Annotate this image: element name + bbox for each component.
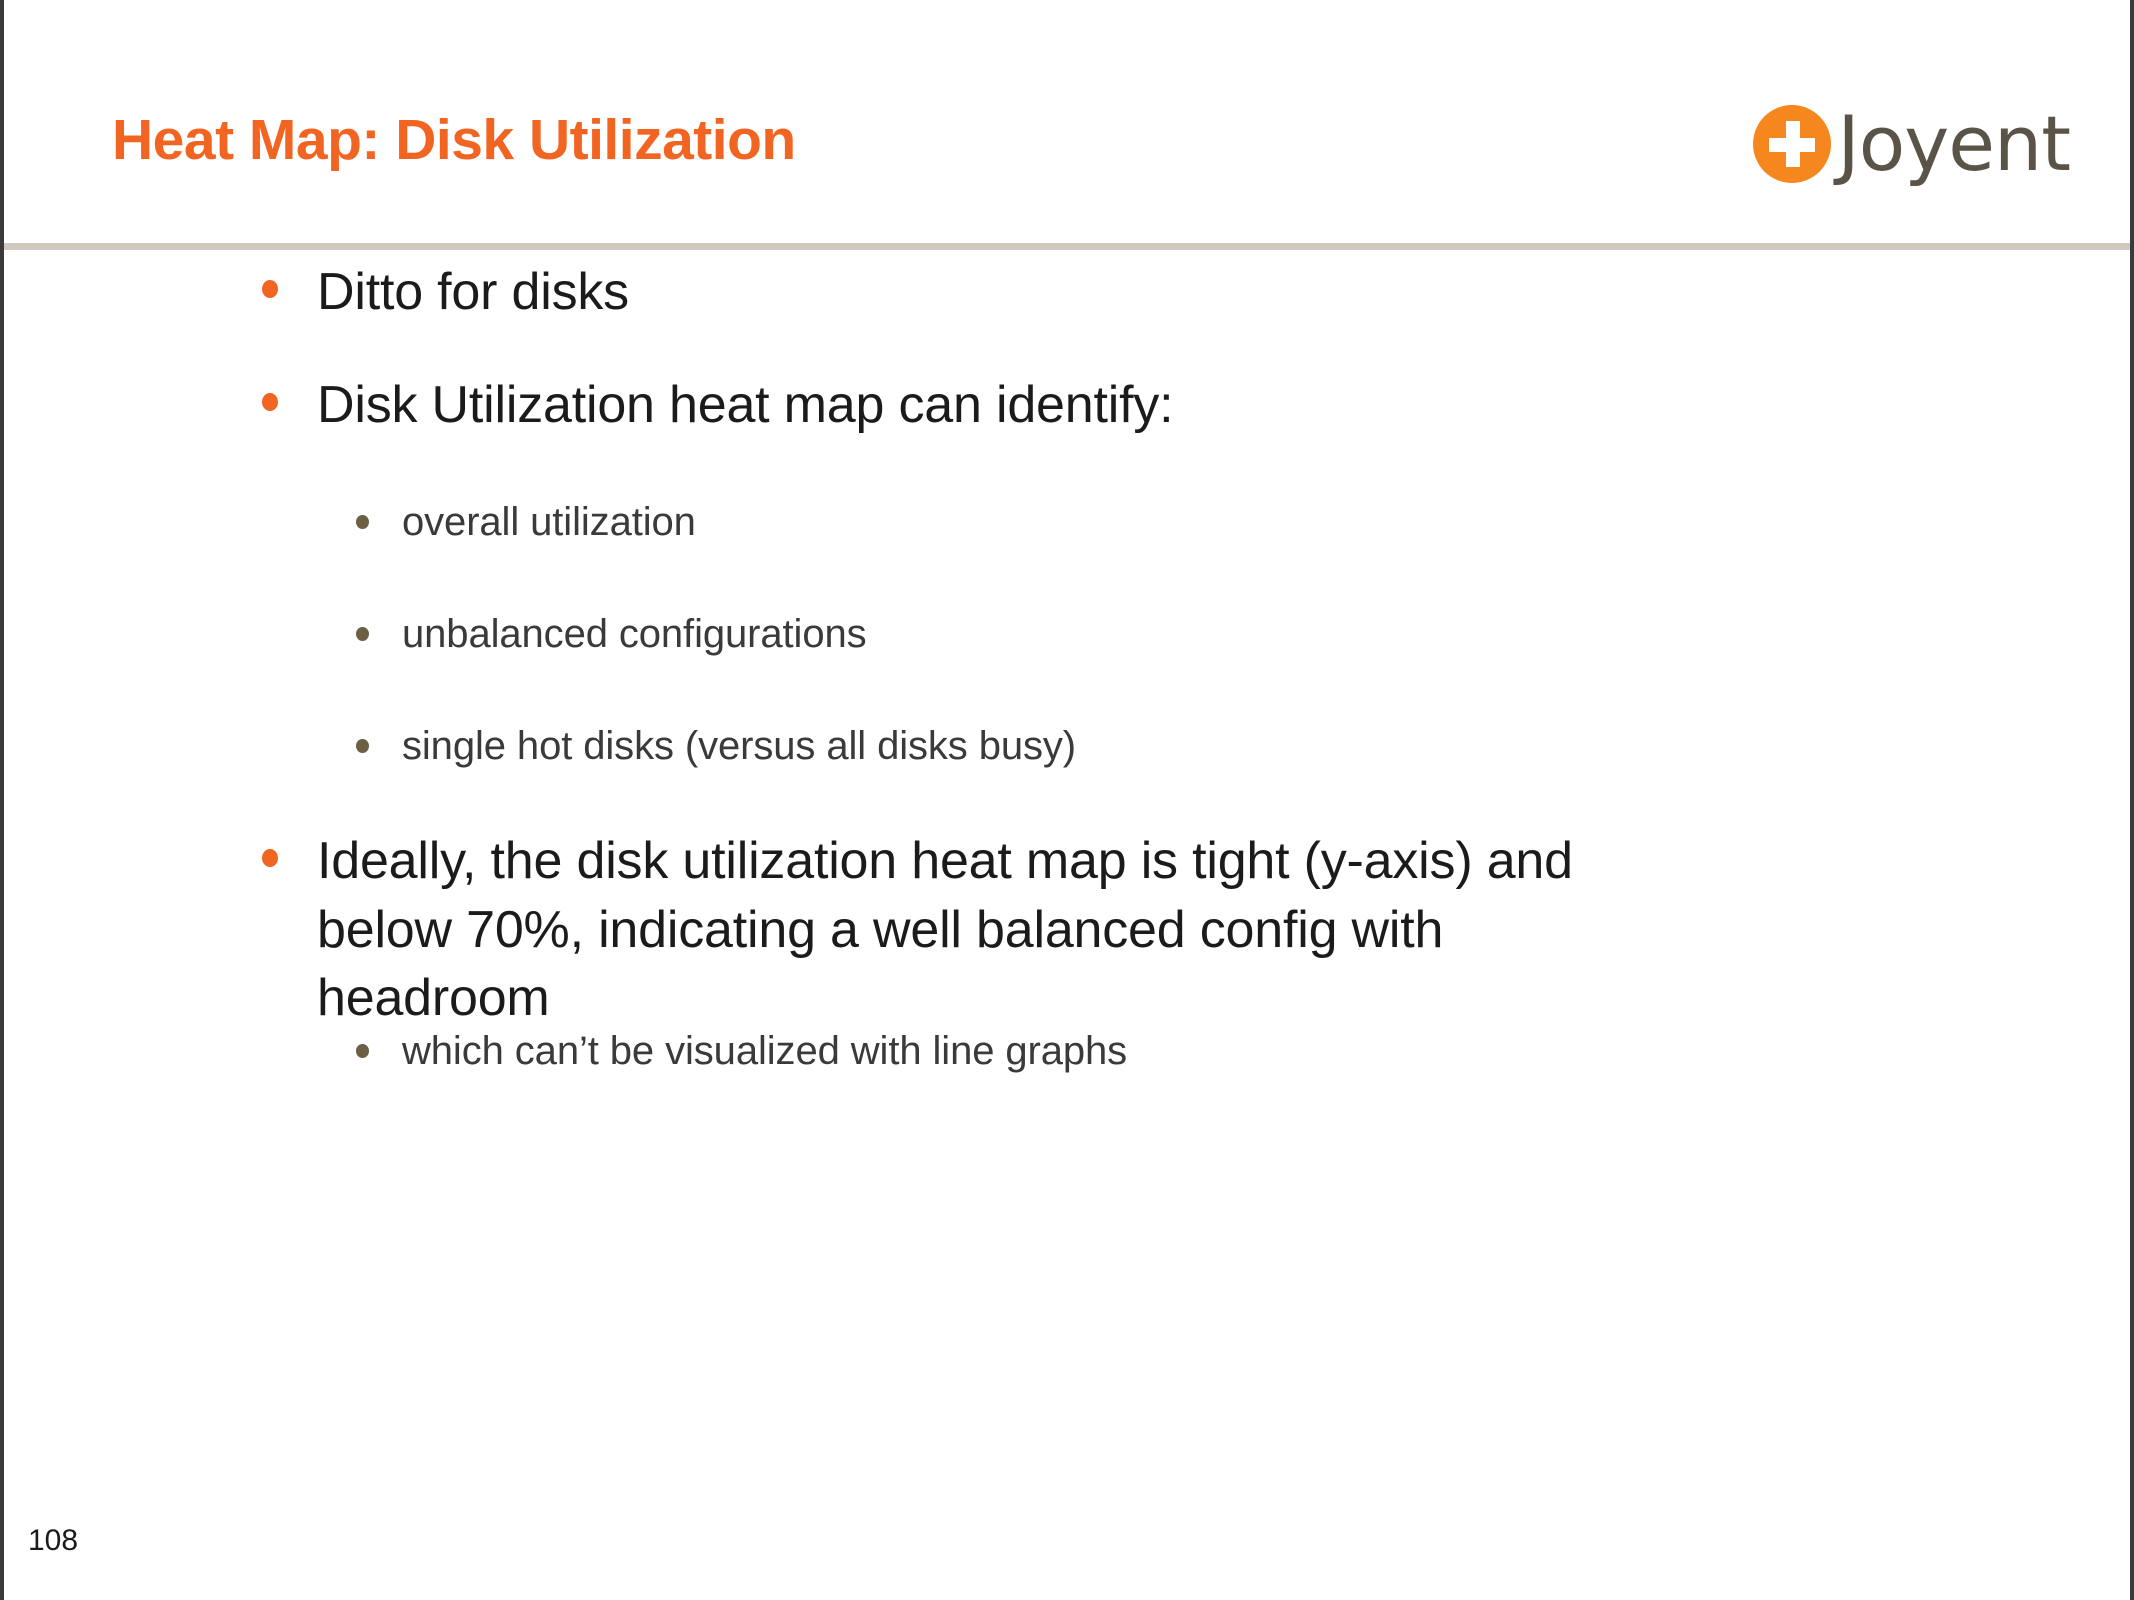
- plus-in-circle-icon: [1753, 105, 1831, 183]
- page-title: Heat Map: Disk Utilization: [112, 107, 796, 173]
- bullet-text: Ideally, the disk utilization heat map i…: [317, 827, 1682, 1033]
- bullet-dot-icon: [356, 627, 369, 641]
- joyent-logo: Joyent: [1753, 104, 2070, 184]
- bullet-text: single hot disks (versus all disks busy): [402, 720, 1076, 772]
- bullet-dot-icon: [356, 1044, 369, 1058]
- bullet-item-level2: single hot disks (versus all disks busy): [356, 720, 2036, 772]
- bullet-text: Disk Utilization heat map can identify:: [317, 371, 1173, 440]
- bullet-dot-icon: [262, 280, 278, 298]
- page-number: 108: [28, 1524, 78, 1558]
- logo-wordmark: Joyent: [1837, 108, 2070, 180]
- slide-header: Heat Map: Disk Utilization Joyent: [4, 0, 2130, 247]
- bullet-text: unbalanced configurations: [402, 608, 867, 660]
- bullet-item-level1: Disk Utilization heat map can identify:: [262, 371, 2022, 440]
- slide-body: Ditto for disksDisk Utilization heat map…: [4, 247, 2130, 1600]
- bullet-text: overall utilization: [402, 496, 696, 548]
- bullet-dot-icon: [356, 739, 369, 753]
- bullet-dot-icon: [262, 393, 278, 411]
- bullet-item-level2: overall utilization: [356, 496, 2036, 548]
- bullet-item-level2: which can’t be visualized with line grap…: [356, 1025, 2036, 1077]
- bullet-item-level1: Ideally, the disk utilization heat map i…: [262, 827, 1682, 1033]
- bullet-item-level2: unbalanced configurations: [356, 608, 2036, 660]
- bullet-text: Ditto for disks: [317, 258, 629, 327]
- bullet-dot-icon: [262, 849, 278, 867]
- slide: Heat Map: Disk Utilization Joyent Ditto …: [0, 0, 2134, 1600]
- bullet-item-level1: Ditto for disks: [262, 258, 2022, 327]
- bullet-text: which can’t be visualized with line grap…: [402, 1025, 1127, 1077]
- bullet-dot-icon: [356, 515, 369, 529]
